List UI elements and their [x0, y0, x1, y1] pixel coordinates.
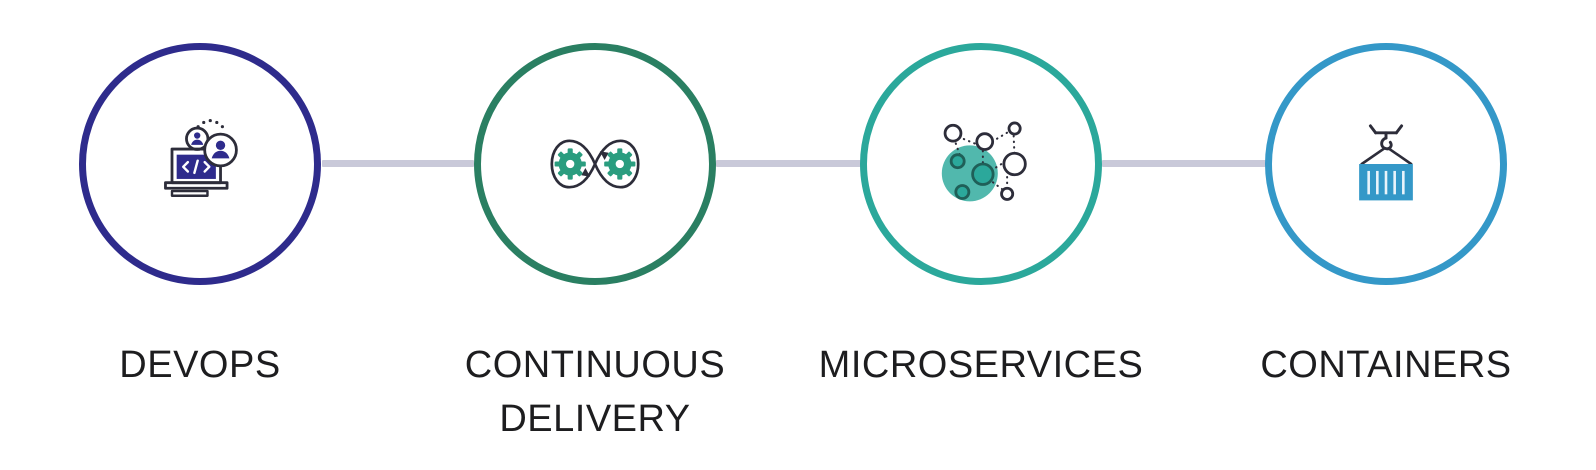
- node-microservices[interactable]: MICROSERVICES: [860, 43, 1102, 285]
- connected-nodes-icon: [925, 108, 1037, 220]
- shipping-container-crane-icon: [1330, 108, 1442, 220]
- connector-devops-to-continuous-delivery: [322, 160, 474, 167]
- node-continuous-delivery-label: CONTINUOUS DELIVERY: [385, 339, 805, 447]
- infinity-gears-icon: [539, 108, 651, 220]
- node-containers[interactable]: CONTAINERS: [1265, 43, 1507, 285]
- node-devops[interactable]: DEVOPS: [79, 43, 321, 285]
- laptop-code-users-icon: [144, 108, 256, 220]
- connector-continuous-delivery-to-microservices: [716, 160, 862, 167]
- node-continuous-delivery[interactable]: CONTINUOUS DELIVERY: [474, 43, 716, 285]
- node-containers-label: CONTAINERS: [1176, 339, 1596, 393]
- node-devops-label: DEVOPS: [0, 339, 410, 393]
- diagram-canvas: DEVOPS: [0, 0, 1596, 470]
- node-microservices-label: MICROSERVICES: [771, 339, 1191, 393]
- connector-microservices-to-containers: [1102, 160, 1266, 167]
